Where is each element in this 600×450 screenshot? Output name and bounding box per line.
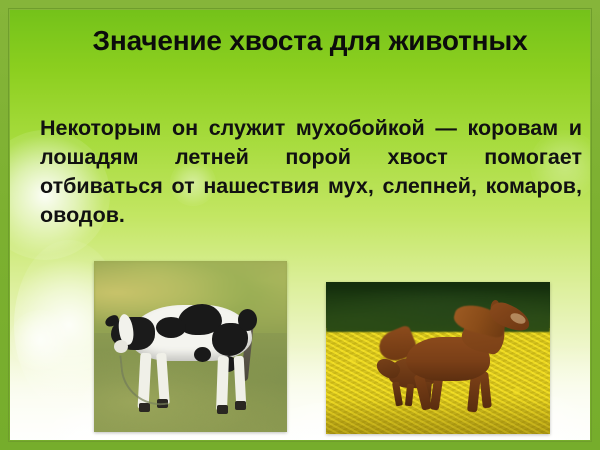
cow-muzzle (114, 340, 128, 353)
cow-photo (94, 261, 287, 432)
bokeh-glow-icon (10, 310, 70, 370)
cow-hoof (139, 403, 150, 412)
slide-title: Значение хвоста для животных (40, 22, 580, 59)
cow-leg (216, 356, 229, 411)
cow-spot (156, 317, 186, 338)
cow-spot (194, 347, 211, 362)
presentation-slide: Значение хвоста для животных Некоторым о… (0, 0, 600, 450)
horse-photo (326, 282, 550, 434)
cow-hoof (217, 405, 228, 414)
slide-content-panel: Значение хвоста для животных Некоторым о… (10, 10, 590, 440)
cow-hoof (235, 401, 246, 410)
cow-spot (238, 309, 257, 331)
slide-body-text: Некоторым он служит мухобойкой — коровам… (40, 114, 582, 230)
